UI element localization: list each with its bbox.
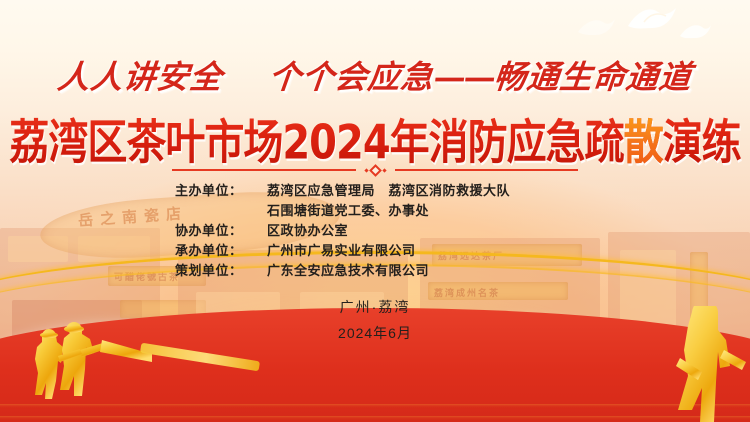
slogan-line: 人人讲安全 个个会应急——畅通生命通道 (0, 52, 750, 98)
organizer-row: 石围塘街道党工委、办事处 (175, 200, 575, 219)
divider-diamond (369, 164, 382, 177)
slogan-dash: —— (432, 58, 496, 96)
divider-rule-left (172, 169, 356, 171)
slogan-part-1: 人人讲安全 (56, 58, 225, 96)
divider-dot-left (364, 168, 368, 172)
event-location: 广州·荔湾 (0, 297, 750, 317)
diamond-ornament-icon (356, 166, 395, 175)
organizer-row: 承办单位： 广州市广易实业有限公司 (175, 240, 575, 259)
page-title-main: 荔湾区茶叶市场2024年消防应急疏 (9, 116, 623, 170)
poster-canvas: 岳之南瓷店 可醋佬號古茶 荔湾远达茶厂 荔湾成州名茶 (0, 0, 750, 422)
dove-icon-small (678, 22, 712, 44)
organizer-label: 协办单位： (175, 220, 267, 239)
page-title-tail: 演练 (663, 116, 741, 170)
organizer-row: 策划单位： 广东全安应急技术有限公司 (175, 260, 575, 279)
organizer-row: 主办单位： 荔湾区应急管理局 荔湾区消防救援大队 (175, 180, 575, 199)
divider-dot-right (382, 168, 386, 172)
dove-icon-faint (576, 16, 616, 40)
organizer-label: 承办单位： (175, 240, 267, 259)
organizer-value: 荔湾区应急管理局 荔湾区消防救援大队 (267, 180, 510, 199)
footer-block: 广州·荔湾 2024年6月 (0, 297, 750, 343)
organizer-list: 主办单位： 荔湾区应急管理局 荔湾区消防救援大队 石围塘街道党工委、办事处 协办… (0, 180, 750, 279)
page-title-accent: 散 (624, 116, 663, 170)
dove-icon (624, 4, 678, 38)
organizer-value: 广州市广易实业有限公司 (267, 240, 416, 259)
divider-rule-right (395, 169, 579, 171)
page-title: 荔湾区茶叶市场2024年消防应急疏散演练 (0, 104, 750, 172)
slogan-part-3: 畅通生命通道 (492, 58, 694, 96)
organizer-value: 石围塘街道党工委、办事处 (267, 200, 429, 219)
divider (172, 164, 578, 176)
organizer-value: 区政协办公室 (267, 220, 348, 239)
organizer-label: 主办单位： (175, 180, 267, 199)
organizer-value: 广东全安应急技术有限公司 (267, 260, 429, 279)
organizer-label: 策划单位： (175, 260, 267, 279)
event-date: 2024年6月 (0, 323, 750, 343)
slogan-part-2: 个个会应急 (267, 58, 436, 96)
organizer-row: 协办单位： 区政协办公室 (175, 220, 575, 239)
